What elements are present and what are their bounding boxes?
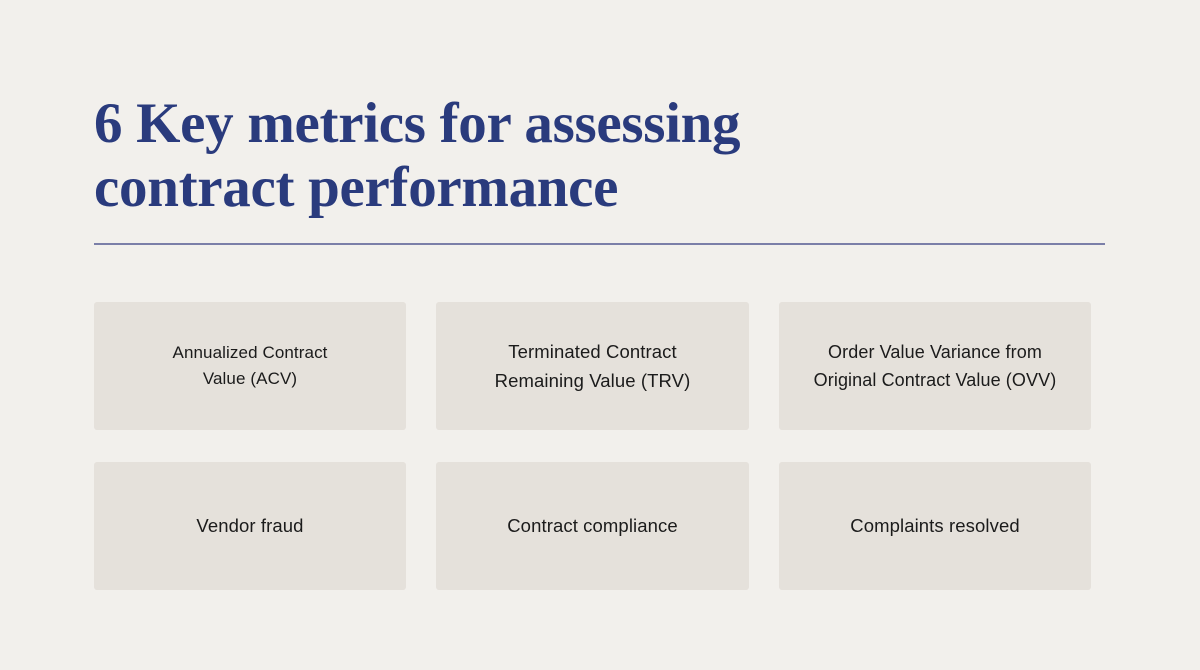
metric-card-trv[interactable]: Terminated Contract Remaining Value (TRV… <box>436 302 749 430</box>
metric-card-label: Vendor fraud <box>196 512 303 540</box>
metric-card-grid: Annualized Contract Value (ACV) Terminat… <box>94 302 1094 590</box>
metric-card-label: Complaints resolved <box>850 512 1020 540</box>
metric-card-acv[interactable]: Annualized Contract Value (ACV) <box>94 302 406 430</box>
metric-card-label: Terminated Contract Remaining Value (TRV… <box>495 337 691 395</box>
metric-card-label: Order Value Variance from Original Contr… <box>814 338 1057 394</box>
metric-card-label: Annualized Contract Value (ACV) <box>173 340 328 392</box>
slide-canvas: 6 Key metrics for assessing contract per… <box>0 0 1200 670</box>
metric-card-vendor-fraud[interactable]: Vendor fraud <box>94 462 406 590</box>
metric-card-label: Contract compliance <box>507 512 678 540</box>
metric-card-ovv[interactable]: Order Value Variance from Original Contr… <box>779 302 1091 430</box>
metric-card-contract-compliance[interactable]: Contract compliance <box>436 462 749 590</box>
metric-card-complaints-resolved[interactable]: Complaints resolved <box>779 462 1091 590</box>
page-title: 6 Key metrics for assessing contract per… <box>94 92 1106 220</box>
title-divider <box>94 243 1105 245</box>
heading-block: 6 Key metrics for assessing contract per… <box>94 92 1106 220</box>
